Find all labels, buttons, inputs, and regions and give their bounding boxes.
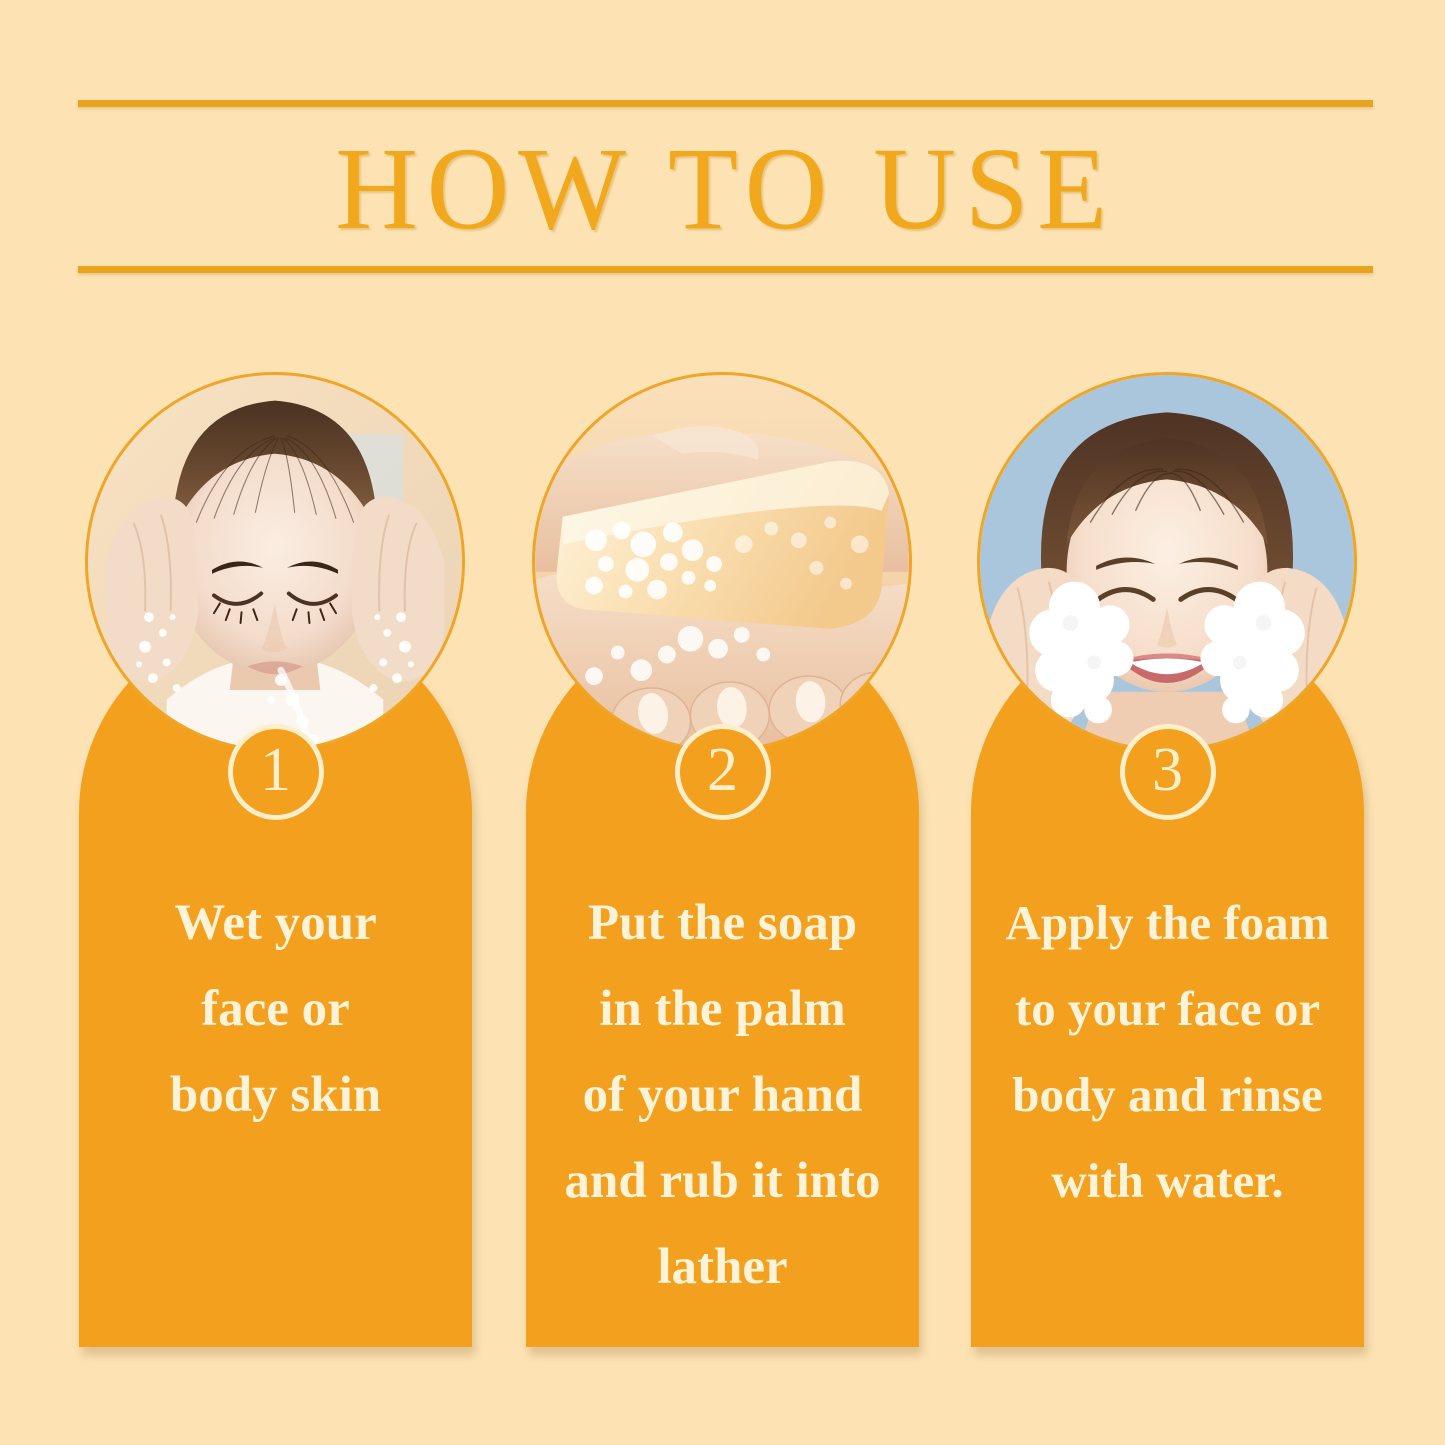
hands-holding-soap-icon xyxy=(535,375,909,749)
step-image-3-clip xyxy=(980,375,1354,749)
step-image-1-clip xyxy=(88,375,462,749)
step-image-3 xyxy=(977,372,1357,752)
step-caption-1: Wet your face or body skin xyxy=(93,880,458,1138)
step-image-2 xyxy=(532,372,912,752)
step-card-3: 3 Apply the foam to your face or body an… xyxy=(971,372,1364,1347)
caption-line: Wet your xyxy=(93,880,458,966)
step-badge-2: 2 xyxy=(675,724,771,820)
woman-splashing-water-icon xyxy=(88,375,462,749)
step-image-2-clip xyxy=(535,375,909,749)
step-caption-3: Apply the foam to your face or body and … xyxy=(985,880,1350,1224)
step-number-2: 2 xyxy=(707,739,738,801)
caption-line: lather xyxy=(540,1224,905,1310)
steps-container: 1 Wet your face or body skin xyxy=(0,0,1445,1445)
caption-line: Put the soap xyxy=(540,880,905,966)
caption-line: in the palm xyxy=(540,966,905,1052)
caption-line: with water. xyxy=(985,1138,1350,1224)
caption-line: Apply the foam xyxy=(985,880,1350,966)
woman-applying-foam-icon xyxy=(980,375,1354,749)
caption-line: to your face or xyxy=(985,966,1350,1052)
caption-line: face or xyxy=(93,966,458,1052)
step-card-1: 1 Wet your face or body skin xyxy=(79,372,472,1347)
step-caption-2: Put the soap in the palm of your hand an… xyxy=(540,880,905,1310)
caption-line: body skin xyxy=(93,1052,458,1138)
caption-line: body and rinse xyxy=(985,1052,1350,1138)
step-card-2: 2 Put the soap in the palm of your hand … xyxy=(526,372,919,1347)
caption-line: and rub it into xyxy=(540,1138,905,1224)
step-badge-3: 3 xyxy=(1120,724,1216,820)
step-image-1 xyxy=(85,372,465,752)
caption-line: of your hand xyxy=(540,1052,905,1138)
step-number-3: 3 xyxy=(1152,739,1183,801)
step-number-1: 1 xyxy=(260,739,291,801)
step-badge-1: 1 xyxy=(228,724,324,820)
